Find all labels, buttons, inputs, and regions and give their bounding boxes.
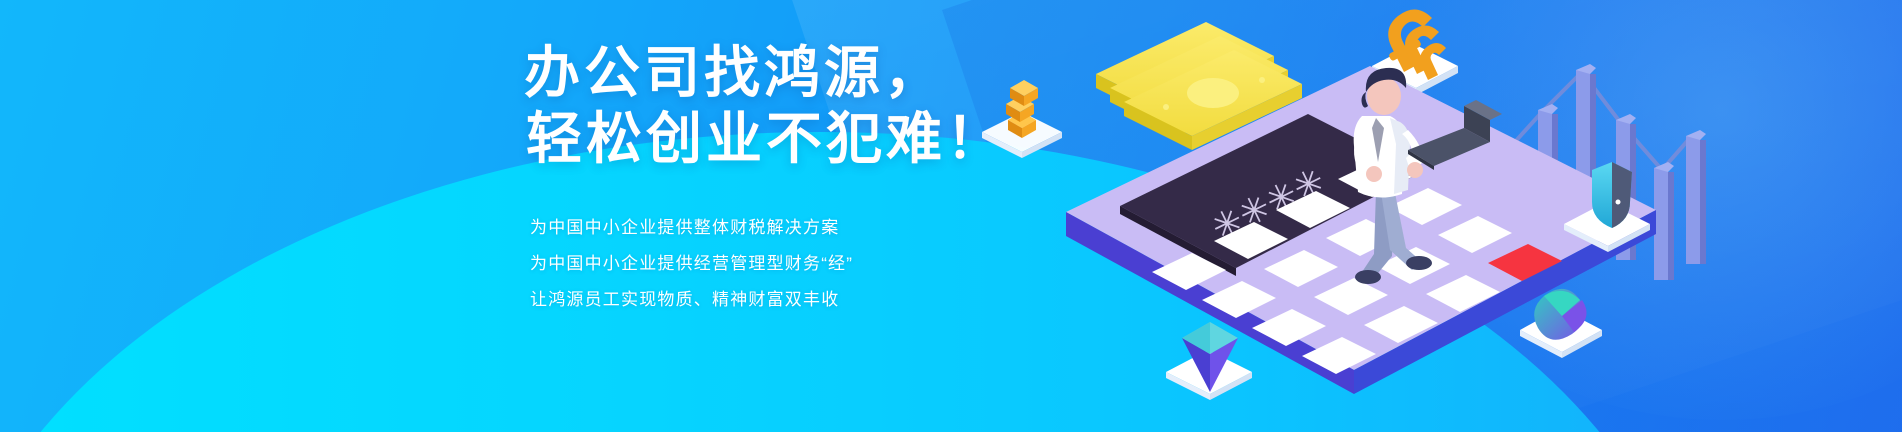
coin-stack-icon [982,80,1062,158]
promo-banner: 办公司找鸿源， 轻松创业不犯难！ 为中国中小企业提供整体财税解决方案 为中国中小… [0,0,1902,432]
subtitle-line-3: 让鸿源员工实现物质、精神财富双丰收 [530,282,1044,318]
banner-illustration: ✳✳✳✳ [970,0,1902,432]
headline-line-1: 办公司找鸿源， [524,40,1044,106]
subtitle-line-1: 为中国中小企业提供整体财税解决方案 [530,210,1044,246]
subtitle-line-2: 为中国中小企业提供经营管理型财务“经” [530,246,1044,282]
gem-icon [1166,322,1252,400]
banner-copy: 办公司找鸿源， 轻松创业不犯难！ 为中国中小企业提供整体财税解决方案 为中国中小… [524,40,1044,318]
headline-line-2: 轻松创业不犯难！ [524,106,1044,172]
subtitle-list: 为中国中小企业提供整体财税解决方案 为中国中小企业提供经营管理型财务“经” 让鸿… [530,210,1044,318]
page-title: 办公司找鸿源， 轻松创业不犯难！ [524,40,1044,172]
